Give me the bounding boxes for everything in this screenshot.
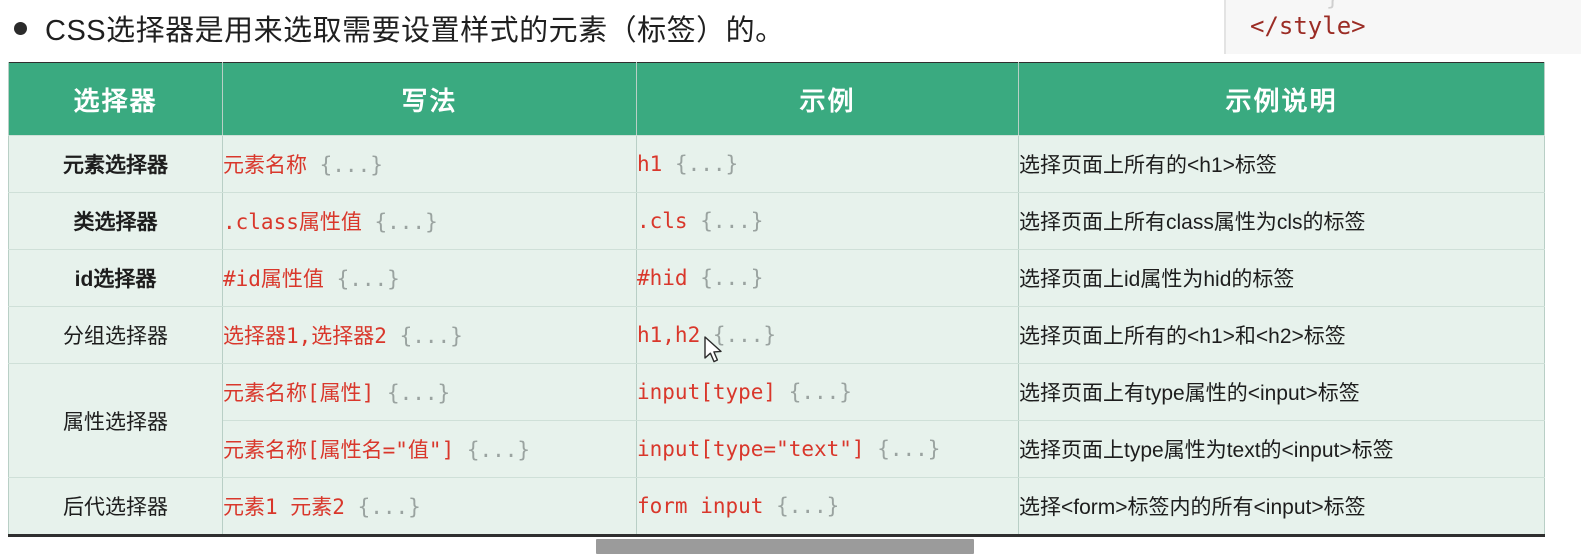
example-braces: {...} — [776, 380, 852, 404]
syntax-braces: {...} — [307, 153, 383, 177]
syntax-text: 元素名称[属性] — [223, 381, 374, 405]
column-header-selector: 选择器 — [9, 63, 223, 136]
cell-description: 选择页面上所有的<h1>和<h2>标签 — [1019, 307, 1545, 364]
column-header-example-desc: 示例说明 — [1019, 63, 1545, 136]
cell-description: 选择页面上有type属性的<input>标签 — [1019, 364, 1545, 421]
syntax-text: 选择器1,选择器2 — [223, 324, 387, 348]
example-text: form input — [637, 494, 763, 518]
example-text: input[type] — [637, 380, 776, 404]
example-braces: {...} — [865, 437, 941, 461]
cell-syntax: 元素名称[属性名="值"] {...} — [223, 421, 637, 478]
syntax-braces: {...} — [387, 324, 463, 348]
table-row: 元素名称[属性名="值"] {...} input[type="text"] {… — [9, 421, 1545, 478]
cell-description: 选择<form>标签内的所有<input>标签 — [1019, 478, 1545, 536]
cell-syntax: 元素名称 {...} — [223, 136, 637, 193]
table-row: 属性选择器 元素名称[属性] {...} input[type] {...} 选… — [9, 364, 1545, 421]
table-body: 元素选择器 元素名称 {...} h1 {...} 选择页面上所有的<h1>标签… — [9, 136, 1545, 536]
table-header: 选择器 写法 示例 示例说明 — [9, 63, 1545, 136]
code-line-style-close: </style> — [1250, 12, 1366, 40]
table-row: 元素选择器 元素名称 {...} h1 {...} 选择页面上所有的<h1>标签 — [9, 136, 1545, 193]
example-braces: {...} — [688, 266, 764, 290]
example-text: h1 — [637, 152, 662, 176]
cell-syntax: .class属性值 {...} — [223, 193, 637, 250]
cell-example: h1 {...} — [637, 136, 1019, 193]
cell-selector-name: id选择器 — [9, 250, 223, 307]
table-row: 类选择器 .class属性值 {...} .cls {...} 选择页面上所有c… — [9, 193, 1545, 250]
horizontal-scrollbar-thumb[interactable] — [596, 539, 974, 554]
table-row: id选择器 #id属性值 {...} #hid {...} 选择页面上id属性为… — [9, 250, 1545, 307]
cell-description: 选择页面上type属性为text的<input>标签 — [1019, 421, 1545, 478]
syntax-text: 元素名称[属性名="值"] — [223, 438, 454, 462]
example-braces: {...} — [700, 323, 776, 347]
table-header-row: 选择器 写法 示例 示例说明 — [9, 63, 1545, 136]
example-text: input[type="text"] — [637, 437, 865, 461]
horizontal-scrollbar-track[interactable] — [0, 537, 1581, 555]
cell-example: input[type] {...} — [637, 364, 1019, 421]
cell-selector-name: 属性选择器 — [9, 364, 223, 478]
table-row: 分组选择器 选择器1,选择器2 {...} h1,h2 {...} 选择页面上所… — [9, 307, 1545, 364]
cell-selector-name: 类选择器 — [9, 193, 223, 250]
column-header-syntax: 写法 — [223, 63, 637, 136]
page-title: CSS选择器是用来选取需要设置样式的元素（标签）的。 — [45, 7, 785, 49]
column-header-example: 示例 — [637, 63, 1019, 136]
syntax-braces: {...} — [345, 495, 421, 519]
cell-syntax: 元素1 元素2 {...} — [223, 478, 637, 536]
cell-selector-name: 元素选择器 — [9, 136, 223, 193]
example-braces: {...} — [763, 494, 839, 518]
syntax-text: .class属性值 — [223, 210, 362, 234]
heading-row: CSS选择器是用来选取需要设置样式的元素（标签）的。 — [0, 0, 1224, 55]
example-braces: {...} — [662, 152, 738, 176]
syntax-braces: {...} — [324, 267, 400, 291]
syntax-text: #id属性值 — [223, 267, 324, 291]
syntax-braces: {...} — [362, 210, 438, 234]
cell-description: 选择页面上id属性为hid的标签 — [1019, 250, 1545, 307]
example-text: h1,h2 — [637, 323, 700, 347]
cell-syntax: 元素名称[属性] {...} — [223, 364, 637, 421]
syntax-braces: {...} — [454, 438, 530, 462]
syntax-braces: {...} — [374, 381, 450, 405]
selector-table-wrap: 选择器 写法 示例 示例说明 元素选择器 元素名称 {...} h1 {...}… — [8, 62, 1544, 527]
example-text: #hid — [637, 266, 688, 290]
cell-selector-name: 后代选择器 — [9, 478, 223, 536]
css-selector-table: 选择器 写法 示例 示例说明 元素选择器 元素名称 {...} h1 {...}… — [8, 62, 1545, 537]
cell-example: input[type="text"] {...} — [637, 421, 1019, 478]
cell-example: .cls {...} — [637, 193, 1019, 250]
table-row: 后代选择器 元素1 元素2 {...} form input {...} 选择<… — [9, 478, 1545, 536]
cell-example: #hid {...} — [637, 250, 1019, 307]
cell-example: h1,h2 {...} — [637, 307, 1019, 364]
cell-syntax: 选择器1,选择器2 {...} — [223, 307, 637, 364]
code-panel: } </style> — [1224, 0, 1581, 54]
syntax-text: 元素1 元素2 — [223, 495, 345, 519]
cell-syntax: #id属性值 {...} — [223, 250, 637, 307]
bullet-dot-icon — [14, 22, 27, 35]
cell-description: 选择页面上所有class属性为cls的标签 — [1019, 193, 1545, 250]
cell-description: 选择页面上所有的<h1>标签 — [1019, 136, 1545, 193]
cell-example: form input {...} — [637, 478, 1019, 536]
cell-selector-name: 分组选择器 — [9, 307, 223, 364]
code-ghost-line: } — [1326, 0, 1339, 11]
example-text: .cls — [637, 209, 688, 233]
example-braces: {...} — [688, 209, 764, 233]
syntax-text: 元素名称 — [223, 153, 307, 177]
